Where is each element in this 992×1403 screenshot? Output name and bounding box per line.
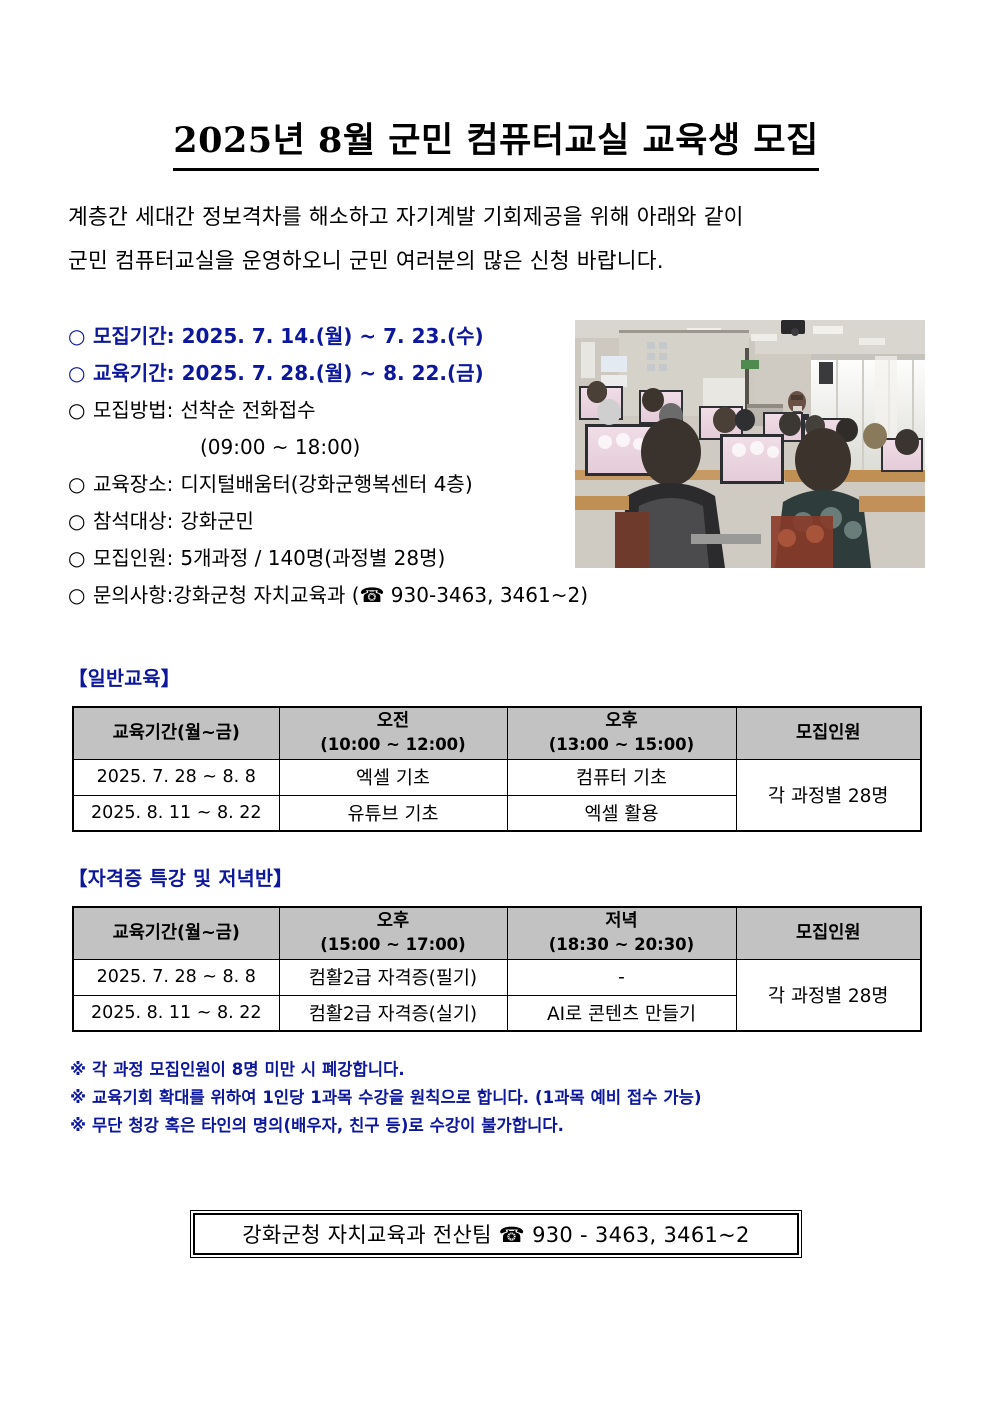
bullet-circle-icon: ○ <box>68 318 93 355</box>
bullet-circle-icon: ○ <box>68 355 93 392</box>
footer-contact-text: 강화군청 자치교육과 전산팀 ☎ 930 - 3463, 3461~2 <box>193 1213 799 1255</box>
cell-evening-course: AI로 콘텐츠 만들기 <box>507 995 736 1031</box>
footer-contact-box: 강화군청 자치교육과 전산팀 ☎ 930 - 3463, 3461~2 <box>190 1210 802 1258</box>
classroom-photo-image <box>575 320 925 568</box>
table-header-row: 교육기간(월~금) 오전 (10:00 ~ 12:00) 오후 (13:00 ~… <box>73 707 921 759</box>
page-title-text: 2025년 8월 군민 컴퓨터교실 교육생 모집 <box>173 112 819 171</box>
detail-value: 선착순 전화접수 <box>180 392 315 429</box>
table-header-row: 교육기간(월~금) 오후 (15:00 ~ 17:00) 저녁 (18:30 ~… <box>73 907 921 959</box>
col-header-evening: 저녁 (18:30 ~ 20:30) <box>507 907 736 959</box>
detail-value: 디지털배움터(강화군행복센터 4층) <box>180 466 472 503</box>
bullet-circle-icon: ○ <box>68 466 93 503</box>
bullet-circle-icon: ○ <box>68 540 93 577</box>
detail-value: 강화군청 자치교육과 (☎ 930-3463, 3461~2) <box>173 577 588 614</box>
detail-label: 문의사항: <box>93 577 173 614</box>
col-header-afternoon: 오후 (15:00 ~ 17:00) <box>279 907 507 959</box>
col-header-afternoon: 오후 (13:00 ~ 15:00) <box>507 707 736 759</box>
intro-paragraph: 계층간 세대간 정보격차를 해소하고 자기계발 기회제공을 위해 아래와 같이 … <box>68 196 898 284</box>
section-heading-general: 【일반교육】 <box>68 662 181 691</box>
detail-value: 2025. 7. 14.(월) ~ 7. 23.(수) <box>182 318 484 355</box>
bullet-circle-icon: ○ <box>68 503 93 540</box>
detail-value: 5개과정 / 140명(과정별 28명) <box>180 540 445 577</box>
intro-line-1: 계층간 세대간 정보격차를 해소하고 자기계발 기회제공을 위해 아래와 같이 <box>68 196 898 240</box>
document-page: 2025년 8월 군민 컴퓨터교실 교육생 모집 계층간 세대간 정보격차를 해… <box>0 0 992 1403</box>
intro-line-2: 군민 컴퓨터교실을 운영하오니 군민 여러분의 많은 신청 바랍니다. <box>68 240 898 284</box>
col-header-morning: 오전 (10:00 ~ 12:00) <box>279 707 507 759</box>
notes-list: ※ 각 과정 모집인원이 8명 미만 시 폐강합니다. ※ 교육기회 확대를 위… <box>70 1056 900 1140</box>
classroom-photo <box>575 320 925 568</box>
table-row: 2025. 7. 28 ~ 8. 8 컴활2급 자격증(필기) - 각 과정별 … <box>73 959 921 995</box>
cell-afternoon-course: 컴활2급 자격증(실기) <box>279 995 507 1031</box>
detail-item-application-method: ○ 모집방법: 선착순 전화접수 <box>68 392 588 429</box>
detail-value: 강화군민 <box>180 503 254 540</box>
note-item-one-course-rule: ※ 교육기회 확대를 위하여 1인당 1과목 수강을 원칙으로 합니다. (1과… <box>70 1084 900 1112</box>
detail-label: 모집인원: <box>93 540 173 577</box>
detail-item-location: ○ 교육장소: 디지털배움터(강화군행복센터 4층) <box>68 466 588 503</box>
table-row: 2025. 7. 28 ~ 8. 8 엑셀 기초 컴퓨터 기초 각 과정별 28… <box>73 759 921 795</box>
detail-value: 2025. 7. 28.(월) ~ 8. 22.(금) <box>182 355 484 392</box>
details-list: ○ 모집기간: 2025. 7. 14.(월) ~ 7. 23.(수) ○ 교육… <box>68 318 588 614</box>
detail-label: 교육장소: <box>93 466 173 503</box>
bullet-circle-icon: ○ <box>68 392 93 429</box>
detail-item-capacity: ○ 모집인원: 5개과정 / 140명(과정별 28명) <box>68 540 588 577</box>
cell-morning-course: 유튜브 기초 <box>279 795 507 831</box>
col-header-capacity: 모집인원 <box>736 907 921 959</box>
cell-capacity: 각 과정별 28명 <box>736 759 921 831</box>
col-header-capacity: 모집인원 <box>736 707 921 759</box>
cell-evening-course: - <box>507 959 736 995</box>
detail-label: 모집기간: <box>93 318 175 355</box>
detail-item-audience: ○ 참석대상: 강화군민 <box>68 503 588 540</box>
col-header-period: 교육기간(월~금) <box>73 907 279 959</box>
bullet-circle-icon: ○ <box>68 577 93 614</box>
cell-morning-course: 엑셀 기초 <box>279 759 507 795</box>
detail-item-contact: ○ 문의사항: 강화군청 자치교육과 (☎ 930-3463, 3461~2) <box>68 577 588 614</box>
detail-label: 모집방법: <box>93 392 173 429</box>
table-certificate-courses: 교육기간(월~금) 오후 (15:00 ~ 17:00) 저녁 (18:30 ~… <box>72 906 922 1032</box>
detail-label: 참석대상: <box>93 503 173 540</box>
cell-period: 2025. 8. 11 ~ 8. 22 <box>73 995 279 1031</box>
section-heading-certificate: 【자격증 특강 및 저녁반】 <box>68 862 293 891</box>
table-general-courses: 교육기간(월~금) 오전 (10:00 ~ 12:00) 오후 (13:00 ~… <box>72 706 922 832</box>
cell-afternoon-course: 컴활2급 자격증(필기) <box>279 959 507 995</box>
cell-capacity: 각 과정별 28명 <box>736 959 921 1031</box>
detail-label: 교육기간: <box>93 355 175 392</box>
note-item-minimum-enrollment: ※ 각 과정 모집인원이 8명 미만 시 폐강합니다. <box>70 1056 900 1084</box>
note-item-no-proxy-attendance: ※ 무단 청강 혹은 타인의 명의(배우자, 친구 등)로 수강이 불가합니다. <box>70 1112 900 1140</box>
col-header-period: 교육기간(월~금) <box>73 707 279 759</box>
cell-period: 2025. 7. 28 ~ 8. 8 <box>73 759 279 795</box>
detail-phone-hours: (09:00 ~ 18:00) <box>68 429 588 466</box>
cell-period: 2025. 7. 28 ~ 8. 8 <box>73 959 279 995</box>
page-title: 2025년 8월 군민 컴퓨터교실 교육생 모집 <box>0 112 992 171</box>
detail-item-recruitment-period: ○ 모집기간: 2025. 7. 14.(월) ~ 7. 23.(수) <box>68 318 588 355</box>
cell-period: 2025. 8. 11 ~ 8. 22 <box>73 795 279 831</box>
detail-item-training-period: ○ 교육기간: 2025. 7. 28.(월) ~ 8. 22.(금) <box>68 355 588 392</box>
cell-afternoon-course: 컴퓨터 기초 <box>507 759 736 795</box>
cell-afternoon-course: 엑셀 활용 <box>507 795 736 831</box>
